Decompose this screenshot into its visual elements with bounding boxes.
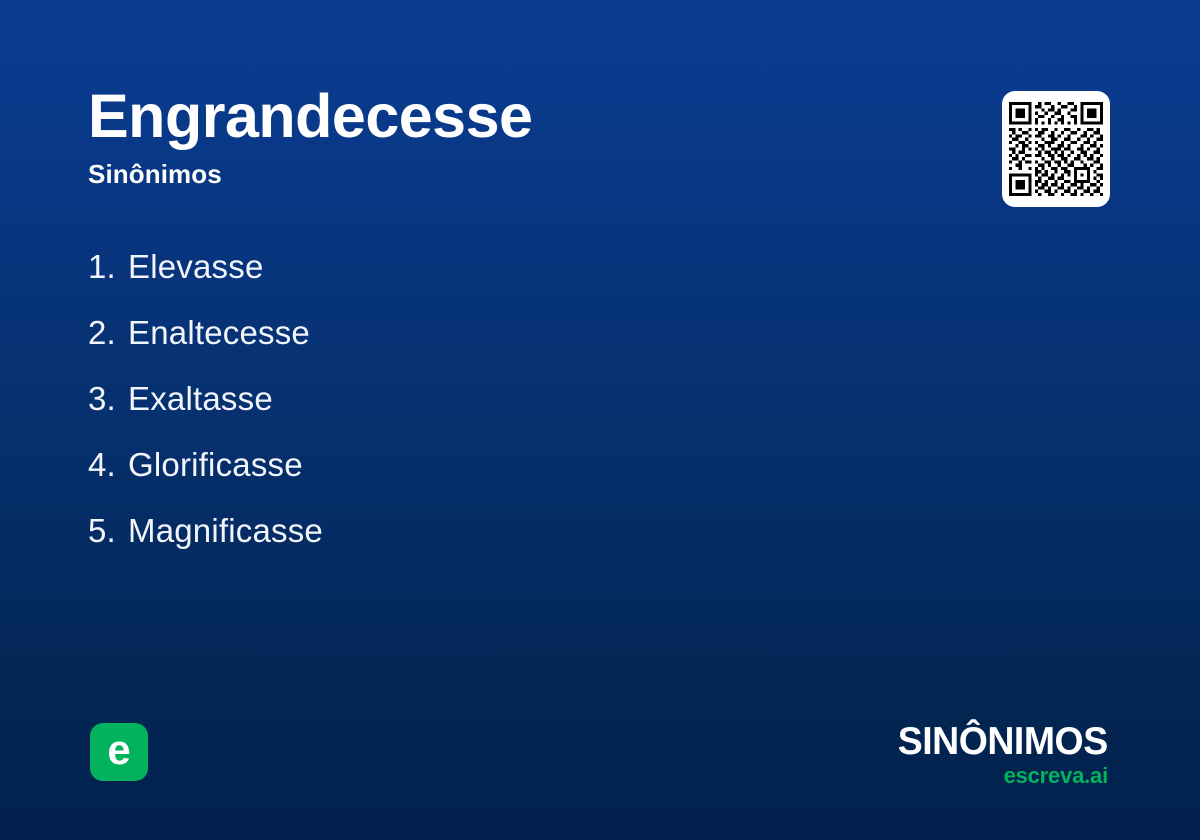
brand-wordmark: SINÔNIMOS escreva.ai: [889, 722, 1108, 787]
heading-block: Engrandecesse Sinônimos: [88, 84, 908, 189]
list-item: 1. Elevasse: [88, 233, 868, 299]
list-item: 4. Glorificasse: [88, 431, 868, 497]
list-item-word: Glorificasse: [128, 448, 303, 481]
synonym-card: Engrandecesse Sinônimos 1. Elevasse 2. E…: [0, 0, 1200, 840]
synonym-list: 1. Elevasse 2. Enaltecesse 3. Exaltasse …: [88, 233, 868, 563]
wordmark-domain: escreva.ai: [889, 765, 1108, 787]
escreva-e-logo-icon[interactable]: e: [90, 723, 148, 781]
list-item-word: Magnificasse: [128, 514, 323, 547]
list-item-index: 4.: [88, 448, 128, 481]
list-item: 5. Magnificasse: [88, 497, 868, 563]
list-item-index: 2.: [88, 316, 128, 349]
list-item-word: Exaltasse: [128, 382, 273, 415]
page-subtitle: Sinônimos: [88, 160, 908, 189]
list-item-word: Enaltecesse: [128, 316, 310, 349]
badge-letter: e: [107, 729, 130, 771]
wordmark-title: SINÔNIMOS: [898, 722, 1108, 761]
list-item-word: Elevasse: [128, 250, 264, 283]
list-item-index: 3.: [88, 382, 128, 415]
list-item: 3. Exaltasse: [88, 365, 868, 431]
page-title: Engrandecesse: [88, 84, 908, 148]
qr-code-container[interactable]: [1002, 91, 1110, 207]
list-item-index: 1.: [88, 250, 128, 283]
list-item-index: 5.: [88, 514, 128, 547]
list-item: 2. Enaltecesse: [88, 299, 868, 365]
qr-code-icon: [1009, 102, 1103, 196]
